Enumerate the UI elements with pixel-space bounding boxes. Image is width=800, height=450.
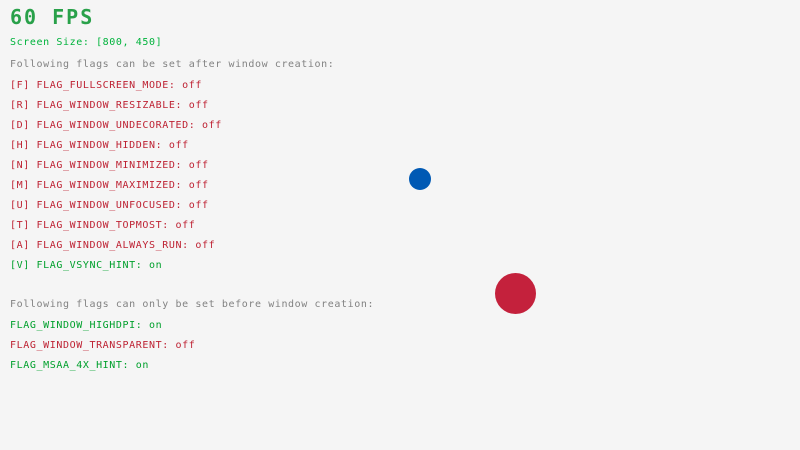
after-creation-flag-list: [F] FLAG_FULLSCREEN_MODE: off [R] FLAG_W… xyxy=(10,80,222,280)
flag-row-msaa-4x-hint: FLAG_MSAA_4X_HINT: on xyxy=(10,360,195,380)
flag-row-window-highdpi: FLAG_WINDOW_HIGHDPI: on xyxy=(10,320,195,340)
flag-row-window-always-run[interactable]: [A] FLAG_WINDOW_ALWAYS_RUN: off xyxy=(10,240,222,260)
flag-row-vsync-hint[interactable]: [V] FLAG_VSYNC_HINT: on xyxy=(10,260,222,280)
after-creation-heading: Following flags can be set after window … xyxy=(10,60,334,70)
flag-row-window-hidden[interactable]: [H] FLAG_WINDOW_HIDDEN: off xyxy=(10,140,222,160)
flag-row-window-maximized[interactable]: [M] FLAG_WINDOW_MAXIMIZED: off xyxy=(10,180,222,200)
flag-row-window-resizable[interactable]: [R] FLAG_WINDOW_RESIZABLE: off xyxy=(10,100,222,120)
fps-counter: 60 FPS xyxy=(10,7,94,27)
flag-row-window-transparent: FLAG_WINDOW_TRANSPARENT: off xyxy=(10,340,195,360)
raylib-window-canvas: 60 FPS Screen Size: [800, 450] Following… xyxy=(0,0,800,450)
flag-row-window-minimized[interactable]: [N] FLAG_WINDOW_MINIMIZED: off xyxy=(10,160,222,180)
blue-ball xyxy=(409,168,431,190)
flag-row-window-topmost[interactable]: [T] FLAG_WINDOW_TOPMOST: off xyxy=(10,220,222,240)
screen-size-label: Screen Size: [800, 450] xyxy=(10,38,162,48)
before-creation-heading: Following flags can only be set before w… xyxy=(10,300,374,310)
flag-row-window-undecorated[interactable]: [D] FLAG_WINDOW_UNDECORATED: off xyxy=(10,120,222,140)
flag-row-window-unfocused[interactable]: [U] FLAG_WINDOW_UNFOCUSED: off xyxy=(10,200,222,220)
red-ball xyxy=(495,273,536,314)
before-creation-flag-list: FLAG_WINDOW_HIGHDPI: on FLAG_WINDOW_TRAN… xyxy=(10,320,195,380)
flag-row-fullscreen-mode[interactable]: [F] FLAG_FULLSCREEN_MODE: off xyxy=(10,80,222,100)
